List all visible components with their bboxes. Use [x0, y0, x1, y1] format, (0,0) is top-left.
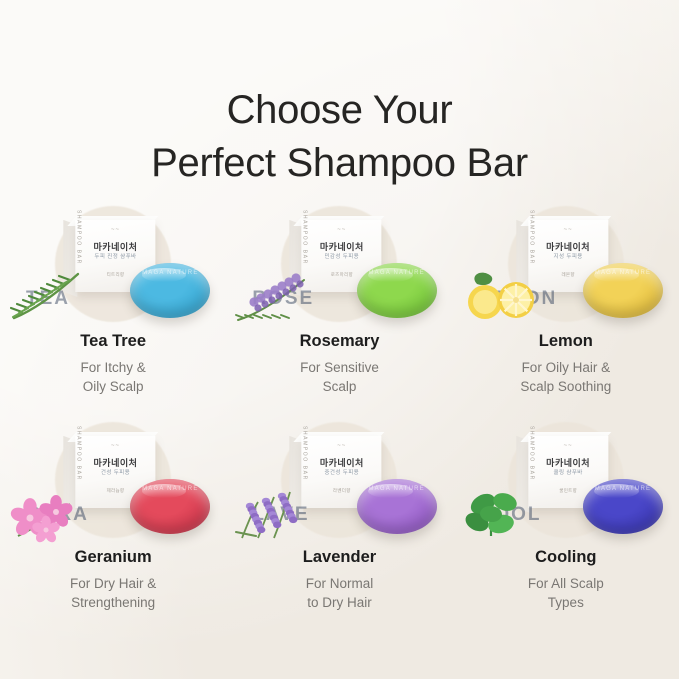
- product-subtitle-kr: 중건성 두피용: [324, 468, 359, 476]
- product-label: Geranium For Dry Hair & Strengthening: [0, 548, 226, 612]
- soap-bar: MAGA NATURE: [130, 479, 210, 534]
- product-description-line-1: For Sensitive: [226, 358, 452, 377]
- product-description: For All Scalp Types: [453, 574, 679, 612]
- infographic-page: Choose Your Perfect Shampoo Bar ~~ 마카네이처…: [0, 0, 679, 679]
- product-name: Lavender: [226, 548, 452, 567]
- product-description-line-2: Oily Scalp: [0, 377, 226, 396]
- brand-mark-icon: ~~: [337, 443, 346, 449]
- soap-emboss-text: MAGA NATURE: [583, 486, 663, 492]
- product-image: ~~ 마카네이처 두피 진정 샴푸바 티트리향 SHAMPOO BAR TEA …: [0, 198, 226, 326]
- brand-mark-icon: ~~: [564, 227, 573, 233]
- product-description: For Oily Hair & Scalp Soothing: [453, 358, 679, 396]
- product-label: Lavender For Normal to Dry Hair: [226, 548, 452, 612]
- soap-bar: MAGA NATURE: [583, 479, 663, 534]
- product-image: ~~ 마카네이처 쿨링 샴푸바 쿨민트향 SHAMPOO BAR COOL MA…: [453, 414, 679, 542]
- soap-emboss-text: MAGA NATURE: [357, 270, 437, 276]
- product-subtitle-kr: 건성 두피용: [101, 468, 130, 476]
- product-description-line-2: Strengthening: [0, 593, 226, 612]
- soap-bar: MAGA NATURE: [357, 479, 437, 534]
- product-image: ~~ 마카네이처 민감성 두피용 로즈마리향 SHAMPOO BAR ROSE …: [226, 198, 452, 326]
- product-grid: ~~ 마카네이처 두피 진정 샴푸바 티트리향 SHAMPOO BAR TEA …: [0, 198, 679, 630]
- product-card-rosemary[interactable]: ~~ 마카네이처 민감성 두피용 로즈마리향 SHAMPOO BAR ROSE …: [226, 198, 452, 414]
- product-scent-kr: 제라늄향: [107, 488, 125, 494]
- product-card-tea-tree[interactable]: ~~ 마카네이처 두피 진정 샴푸바 티트리향 SHAMPOO BAR TEA …: [0, 198, 226, 414]
- product-description-line-1: For Normal: [226, 574, 452, 593]
- product-name: Tea Tree: [0, 332, 226, 351]
- soap-emboss-text: MAGA NATURE: [583, 270, 663, 276]
- product-scent-kr: 라벤더향: [333, 488, 351, 494]
- product-description-line-2: Scalp: [226, 377, 452, 396]
- brand-mark-icon: ~~: [111, 227, 120, 233]
- product-card-lemon[interactable]: ~~ 마카네이처 지성 두피용 레몬향 SHAMPOO BAR LEMON MA…: [453, 198, 679, 414]
- page-title: Choose Your Perfect Shampoo Bar: [0, 84, 679, 190]
- soap-emboss-text: MAGA NATURE: [130, 270, 210, 276]
- brand-mark-icon: ~~: [564, 443, 573, 449]
- product-image: ~~ 마카네이처 지성 두피용 레몬향 SHAMPOO BAR LEMON MA…: [453, 198, 679, 326]
- brand-mark-icon: ~~: [337, 227, 346, 233]
- product-label: Tea Tree For Itchy & Oily Scalp: [0, 332, 226, 396]
- product-name: Lemon: [453, 332, 679, 351]
- product-label: Lemon For Oily Hair & Scalp Soothing: [453, 332, 679, 396]
- product-description-line-2: Types: [453, 593, 679, 612]
- product-scent-kr: 레몬향: [561, 272, 574, 278]
- brand-mark-icon: ~~: [111, 443, 120, 449]
- product-description: For Itchy & Oily Scalp: [0, 358, 226, 396]
- product-image: ~~ 마카네이처 건성 두피용 제라늄향 SHAMPOO BAR GERA MA…: [0, 414, 226, 542]
- product-subtitle-kr: 쿨링 샴푸바: [554, 468, 583, 476]
- product-card-cooling[interactable]: ~~ 마카네이처 쿨링 샴푸바 쿨민트향 SHAMPOO BAR COOL MA…: [453, 414, 679, 630]
- product-description-line-1: For Oily Hair &: [453, 358, 679, 377]
- product-description-line-1: For Itchy &: [0, 358, 226, 377]
- lavender-flower-icon: [234, 262, 320, 324]
- product-subtitle-kr: 지성 두피용: [554, 252, 583, 260]
- product-scent-kr: 티트리향: [107, 272, 125, 278]
- product-description-line-1: For Dry Hair &: [0, 574, 226, 593]
- product-label: Cooling For All Scalp Types: [453, 548, 679, 612]
- product-subtitle-kr: 두피 진정 샴푸바: [94, 252, 136, 260]
- soap-emboss-text: MAGA NATURE: [130, 486, 210, 492]
- product-description-line-2: to Dry Hair: [226, 593, 452, 612]
- mint-leaf-icon: [461, 478, 547, 540]
- product-description-line-1: For All Scalp: [453, 574, 679, 593]
- pink-blossom-icon: [8, 478, 94, 540]
- product-description: For Dry Hair & Strengthening: [0, 574, 226, 612]
- product-card-geranium[interactable]: ~~ 마카네이처 건성 두피용 제라늄향 SHAMPOO BAR GERA MA…: [0, 414, 226, 630]
- product-subtitle-kr: 민감성 두피용: [324, 252, 359, 260]
- product-scent-kr: 로즈마리향: [331, 272, 353, 278]
- product-name: Geranium: [0, 548, 226, 567]
- soap-emboss-text: MAGA NATURE: [357, 486, 437, 492]
- product-name: Cooling: [453, 548, 679, 567]
- product-description-line-2: Scalp Soothing: [453, 377, 679, 396]
- page-title-line-1: Choose Your: [227, 88, 453, 132]
- page-title-line-2: Perfect Shampoo Bar: [0, 137, 679, 190]
- product-image: ~~ 마카네이처 중건성 두피용 라벤더향 SHAMPOO BAR LAVE M…: [226, 414, 452, 542]
- product-scent-kr: 쿨민트향: [559, 488, 577, 494]
- product-description: For Normal to Dry Hair: [226, 574, 452, 612]
- product-label: Rosemary For Sensitive Scalp: [226, 332, 452, 396]
- product-description: For Sensitive Scalp: [226, 358, 452, 396]
- lemon-slice-icon: [461, 262, 547, 324]
- product-name: Rosemary: [226, 332, 452, 351]
- soap-bar: MAGA NATURE: [130, 263, 210, 318]
- soap-bar: MAGA NATURE: [357, 263, 437, 318]
- lavender-sprig-icon: [234, 478, 320, 540]
- soap-bar: MAGA NATURE: [583, 263, 663, 318]
- product-card-lavender[interactable]: ~~ 마카네이처 중건성 두피용 라벤더향 SHAMPOO BAR LAVE M…: [226, 414, 452, 630]
- rosemary-sprig-icon: [8, 262, 94, 324]
